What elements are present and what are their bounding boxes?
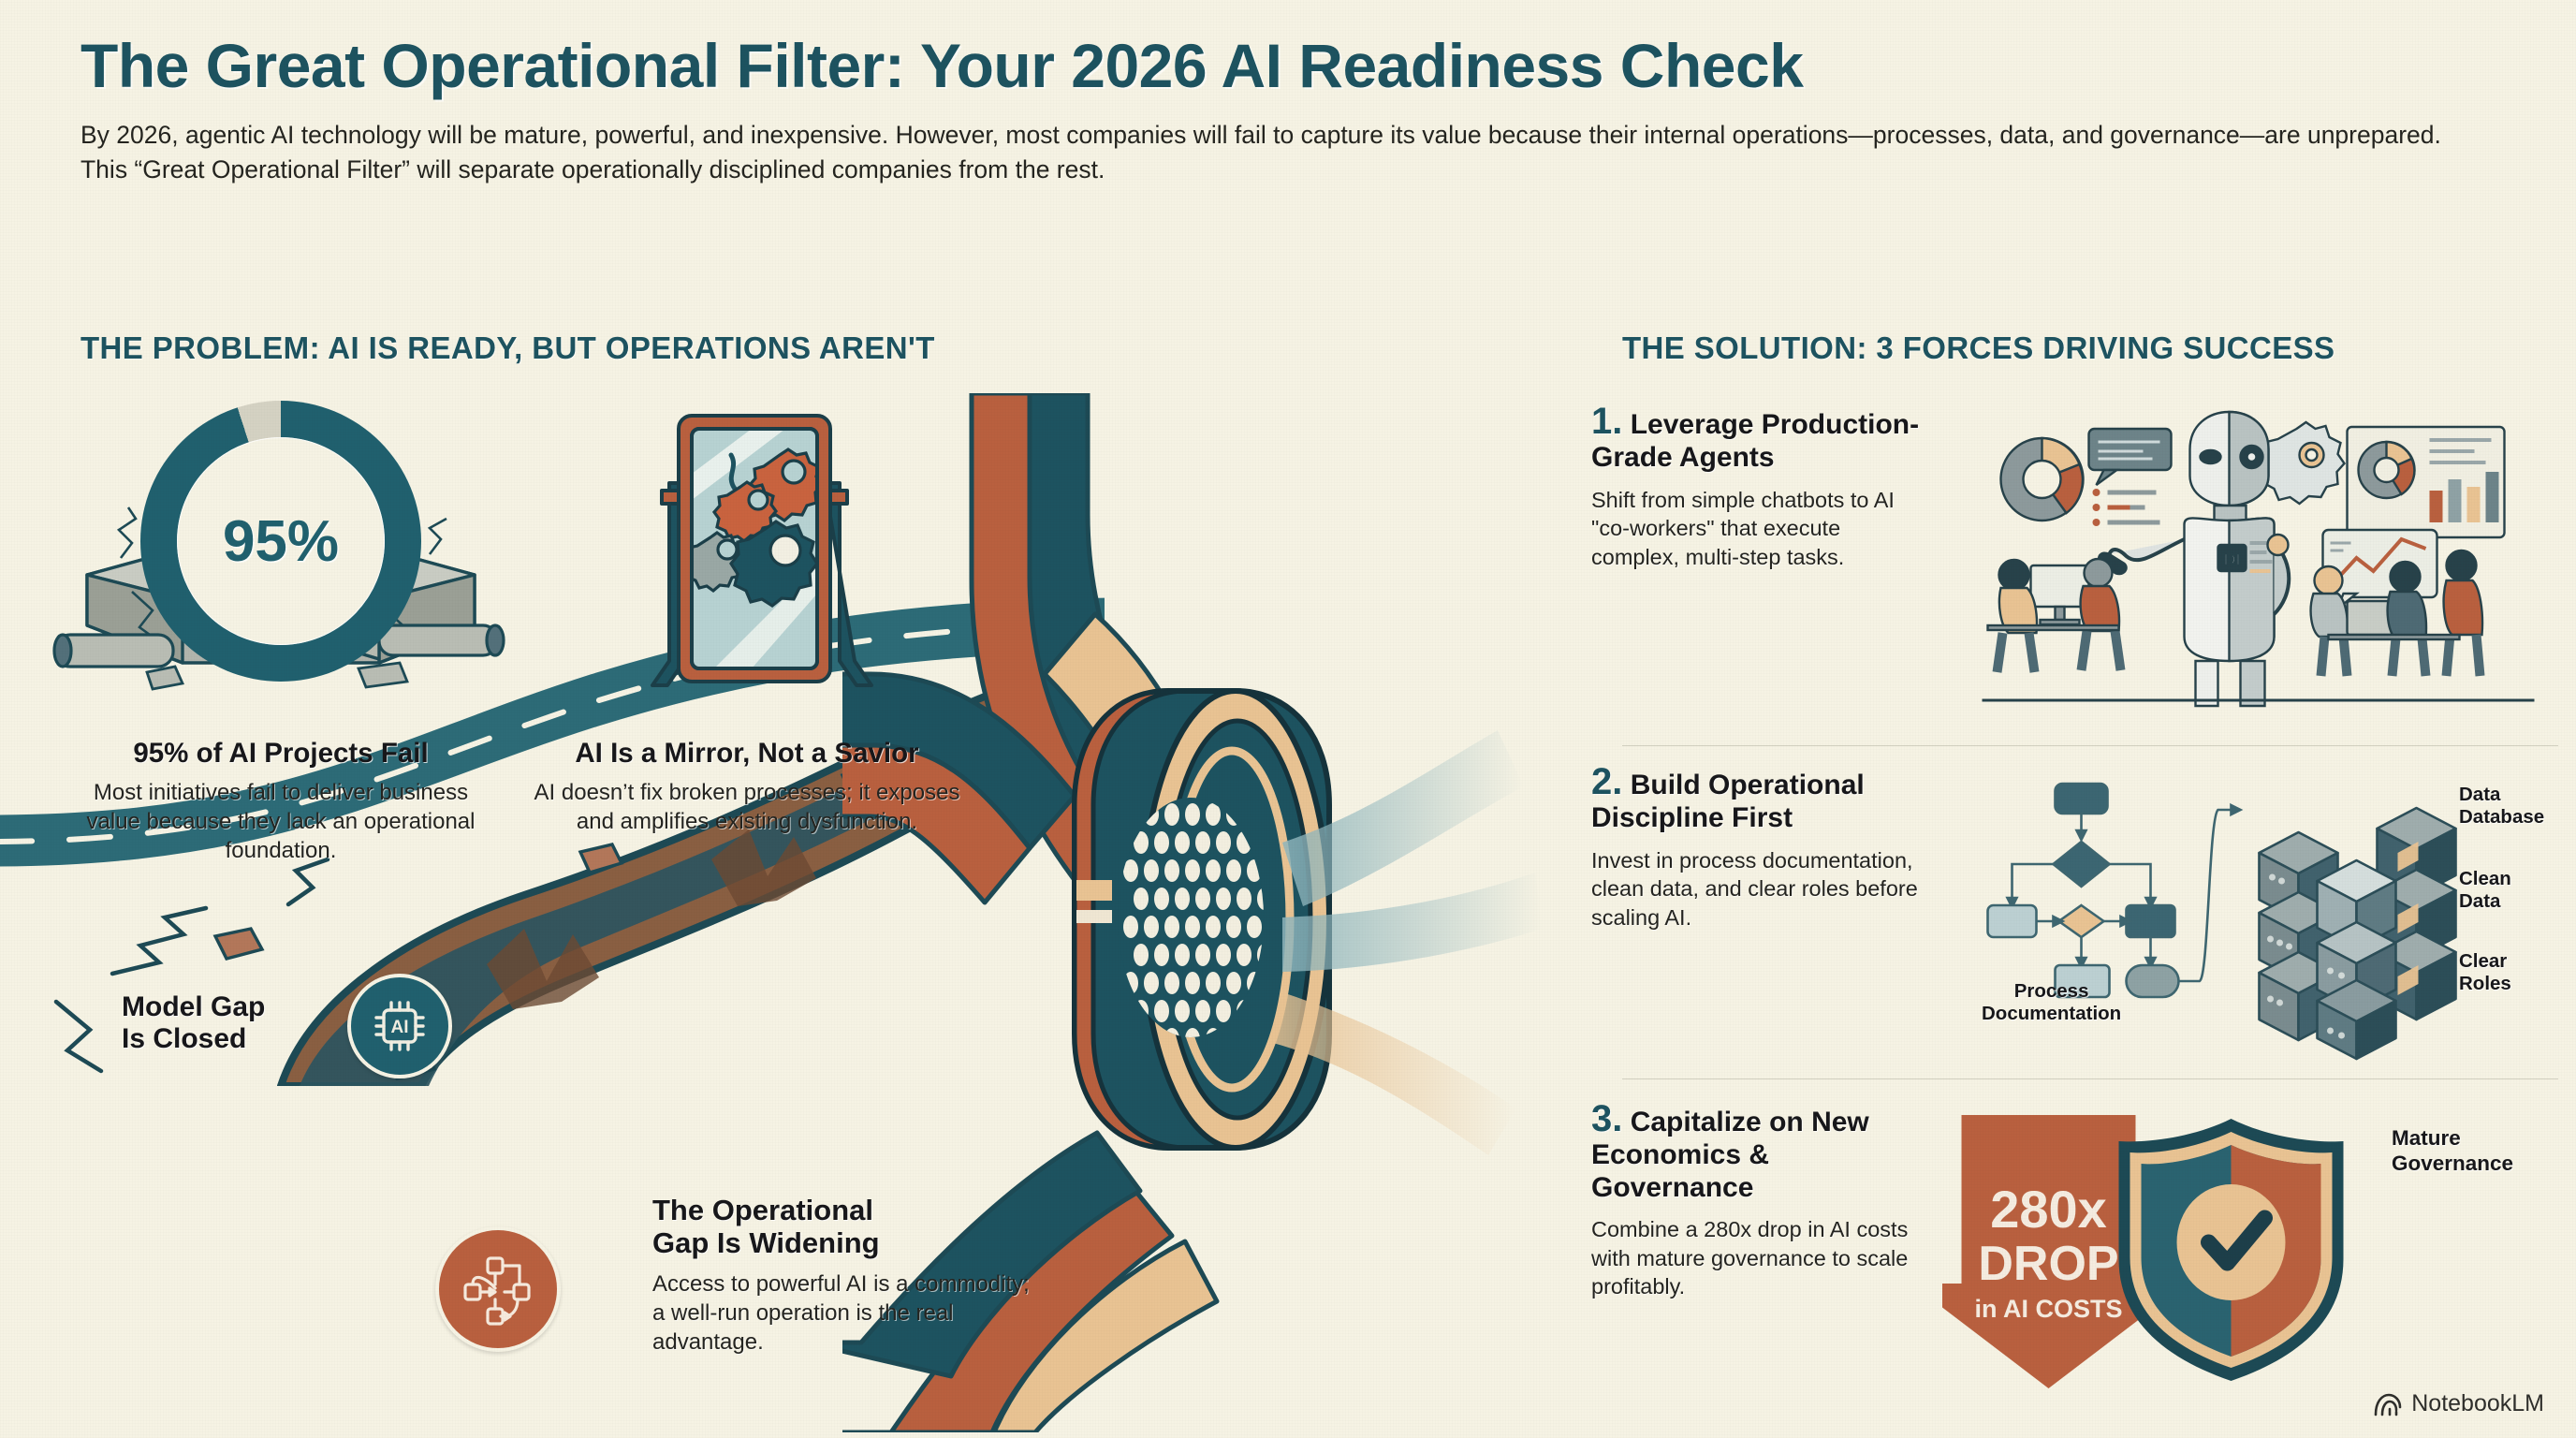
solution-item-number: 1.	[1591, 401, 1622, 442]
header: The Great Operational Filter: Your 2026 …	[80, 34, 2514, 187]
cost-drop-arrow-icon: 280x DROP in AI COSTS Mature Governance	[1942, 1100, 2576, 1409]
problem-card-95-percent: 95% 95% of AI Projects Fail Most initiat…	[66, 401, 496, 865]
model-gap-label: Model Gap Is Closed	[122, 991, 265, 1054]
clean-data-label: Clean Data	[2459, 868, 2511, 913]
flowchart-datablocks-icon: Process Documentation Data Database Clea…	[1942, 763, 2576, 1072]
solution-item-body: Invest in process documentation, clean d…	[1591, 846, 1925, 932]
drop-sublabel: in AI COSTS	[1974, 1295, 2122, 1323]
solution-column: 1. Leverage Production-Grade Agents Shif…	[1591, 389, 2576, 1409]
mirror-gears-icon	[513, 401, 981, 738]
process-documentation-label: Process Documentation	[1982, 980, 2121, 1025]
gear-icon	[2261, 422, 2345, 504]
problem-card-body: Most initiatives fail to deliver busines…	[66, 778, 496, 866]
solution-item-1: 1. Leverage Production-Grade Agents Shif…	[1591, 403, 2576, 712]
drop-multiplier: 280x	[1990, 1180, 2107, 1239]
solution-item-number: 3.	[1591, 1098, 1622, 1139]
solution-divider	[1622, 1078, 2558, 1079]
mature-governance-label: Mature Governance	[2392, 1126, 2513, 1176]
problem-card-title: 95% of AI Projects Fail	[66, 738, 496, 770]
solution-section-heading: THE SOLUTION: 3 FORCES DRIVING SUCCESS	[1622, 330, 2334, 366]
fail-rate-value: 95%	[140, 401, 421, 682]
problem-card-title: AI Is a Mirror, Not a Savior	[513, 738, 981, 770]
solution-divider	[1622, 745, 2558, 746]
problem-card-body: AI doesn’t fix broken processes; it expo…	[513, 778, 981, 836]
svg-text:AI: AI	[391, 1018, 409, 1037]
robot-badge: DI	[2224, 550, 2241, 569]
page-title: The Great Operational Filter: Your 2026 …	[80, 34, 2514, 99]
mirror-illustration	[621, 401, 873, 710]
problem-section-heading: THE PROBLEM: AI IS READY, BUT OPERATIONS…	[80, 330, 935, 366]
solution-item-2: 2. Build Operational Discipline First In…	[1591, 763, 2576, 1072]
process-flow-icon	[435, 1226, 561, 1352]
bullet-list	[2093, 489, 2160, 526]
cracked-foundation-icon: 95%	[66, 401, 496, 738]
dashboard-panel	[2348, 427, 2505, 537]
clear-roles-label: Clear Roles	[2459, 950, 2511, 995]
robot-coworkers-icon: DI	[1942, 403, 2576, 712]
solution-item-3: 3. Capitalize on New Economics & Governa…	[1591, 1100, 2576, 1409]
notebooklm-logo-icon	[2374, 1392, 2402, 1416]
donut-chart-small	[2001, 438, 2084, 521]
solution-item-title: 1. Leverage Production-Grade Agents	[1591, 403, 1925, 475]
drop-word: DROP	[1978, 1237, 2118, 1291]
solution-item-body: Shift from simple chatbots to AI "co-wor…	[1591, 486, 1925, 572]
solution-item-body: Combine a 280x drop in AI costs with mat…	[1591, 1215, 1925, 1301]
page-subtitle: By 2026, agentic AI technology will be m…	[80, 118, 2477, 187]
operational-gap-block: The Operational Gap Is Widening Access t…	[652, 1194, 1046, 1357]
solution-item-number: 2.	[1591, 761, 1622, 802]
people-right	[2311, 550, 2482, 676]
chip-glyph: AI	[366, 992, 433, 1060]
solution-item-title: 3. Capitalize on New Economics & Governa…	[1591, 1100, 1925, 1204]
flow-glyph	[456, 1247, 540, 1331]
watermark-label: NotebookLM	[2411, 1390, 2544, 1417]
operational-gap-title: The Operational Gap Is Widening	[652, 1194, 1046, 1260]
people-left	[1988, 559, 2121, 672]
flowchart-group	[1988, 784, 2241, 997]
data-blocks-group	[2260, 808, 2456, 1059]
watermark: NotebookLM	[2374, 1390, 2544, 1417]
problem-card-mirror: AI Is a Mirror, Not a Savior AI doesn’t …	[513, 401, 981, 836]
data-database-label: Data Database	[2459, 784, 2544, 829]
speech-bubble-left	[2089, 429, 2172, 485]
solution-item-title: 2. Build Operational Discipline First	[1591, 763, 1925, 835]
shield-check-icon	[2119, 1119, 2344, 1381]
ai-chip-icon: AI	[347, 974, 452, 1078]
robot-office-illustration: DI	[1942, 403, 2576, 712]
operational-gap-body: Access to powerful AI is a commodity; a …	[652, 1269, 1046, 1357]
